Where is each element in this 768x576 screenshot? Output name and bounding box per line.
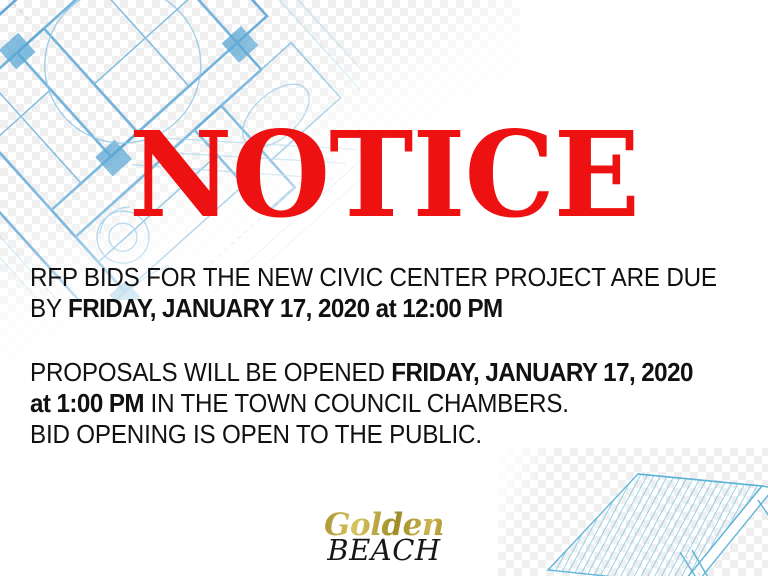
para2-open-date: FRIDAY, JANUARY 17, 2020 xyxy=(391,357,693,387)
para2-line1-prefix: PROPOSALS WILL BE OPENED xyxy=(30,357,391,387)
paragraph-bid-due: RFP BIDS FOR THE NEW CIVIC CENTER PROJEC… xyxy=(30,262,709,324)
para1-due-datetime: FRIDAY, JANUARY 17, 2020 at 12:00 PM xyxy=(68,293,503,323)
para1-line2-prefix: BY xyxy=(30,293,68,323)
para1-line1-text: RFP BIDS FOR THE NEW CIVIC CENTER PROJEC… xyxy=(30,262,717,292)
para2-open-time: at 1:00 PM xyxy=(30,388,144,418)
notice-poster: NOTICE RFP BIDS FOR THE NEW CIVIC CENTER… xyxy=(0,0,768,576)
para2-public-notice: BID OPENING IS OPEN TO THE PUBLIC. xyxy=(30,419,482,449)
para2-line2-suffix: IN THE TOWN COUNCIL CHAMBERS. xyxy=(144,388,569,418)
page-title: NOTICE xyxy=(15,116,752,234)
paragraph-bid-opening: PROPOSALS WILL BE OPENED FRIDAY, JANUARY… xyxy=(30,357,709,450)
notice-body: RFP BIDS FOR THE NEW CIVIC CENTER PROJEC… xyxy=(30,262,760,450)
golden-beach-logo: Golden BEACH xyxy=(0,506,768,576)
logo-word-beach: BEACH xyxy=(314,534,454,566)
